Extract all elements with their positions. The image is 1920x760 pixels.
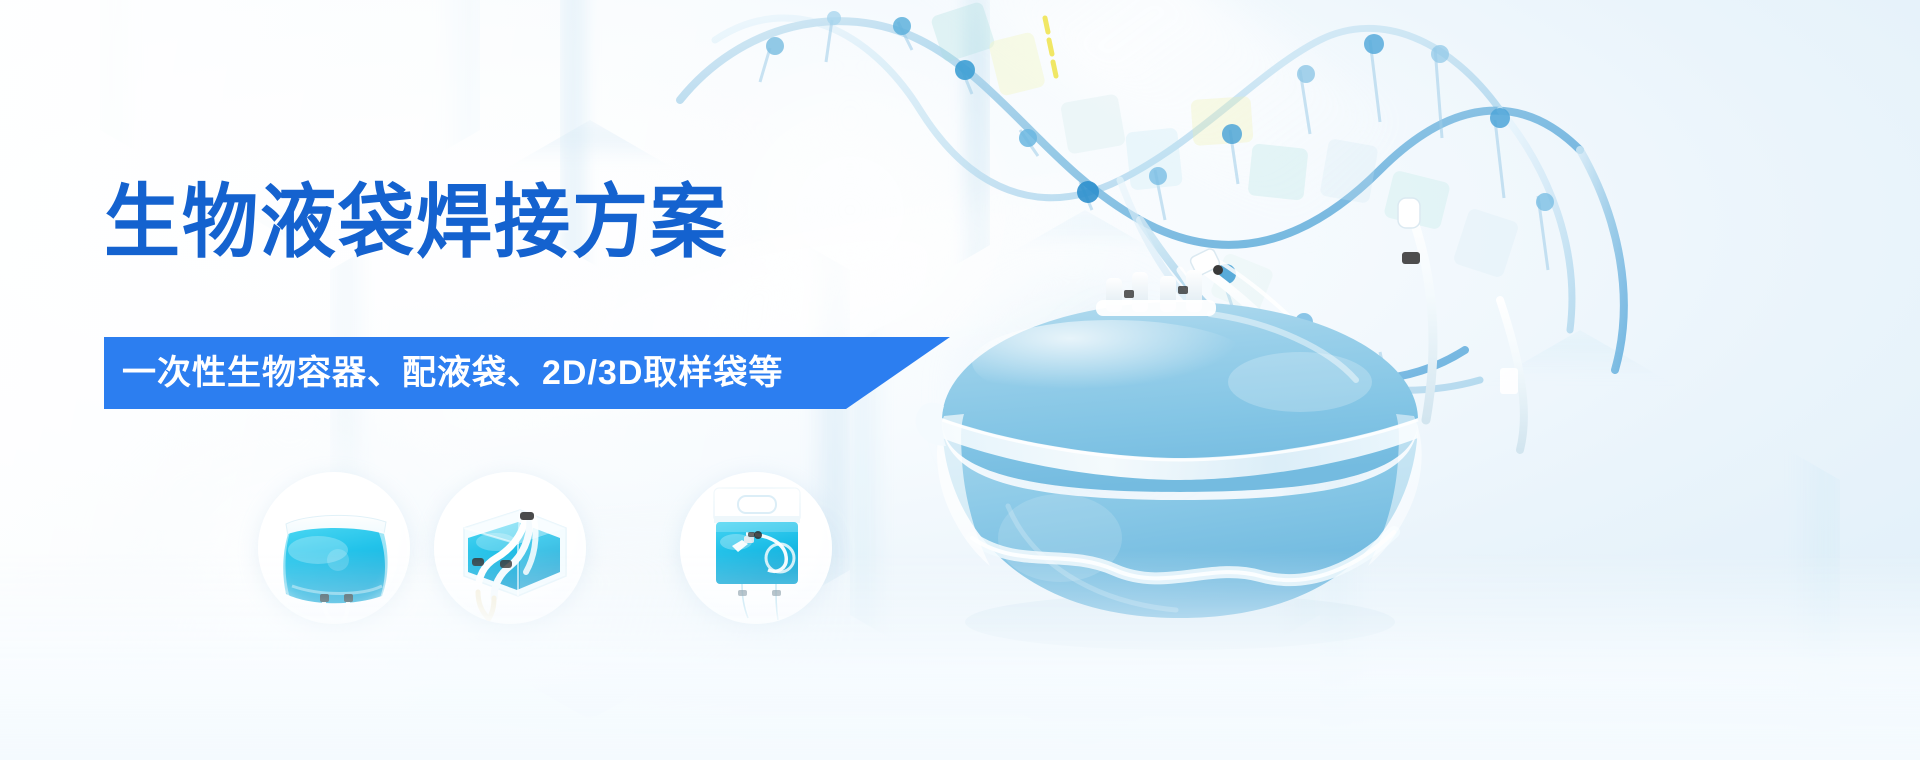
promotional-banner: 生物液袋焊接方案 一次性生物容器、配液袋、2D/3D取样袋等 — [0, 0, 1920, 760]
subtitle-text: 一次性生物容器、配液袋、2D/3D取样袋等 — [122, 337, 783, 409]
page-title: 生物液袋焊接方案 — [104, 181, 728, 266]
bottom-fade-overlay — [0, 550, 1920, 760]
bag-port-manifold — [1096, 270, 1216, 316]
